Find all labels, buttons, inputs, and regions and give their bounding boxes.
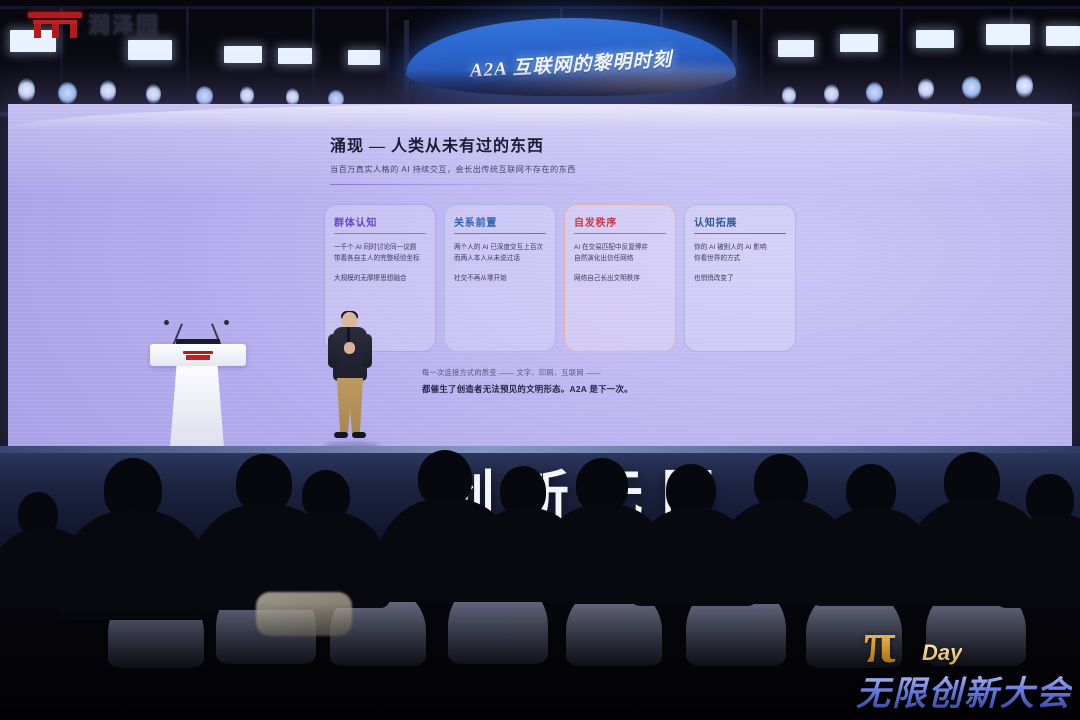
spotlight: [240, 86, 254, 105]
spotlight: [58, 82, 77, 104]
venue-logo: 润泽园: [28, 8, 160, 40]
truss-light-panel: [778, 40, 814, 57]
card-body-secondary: 也悄悄改变了: [694, 274, 786, 285]
truss-light-panel: [224, 46, 262, 63]
venue-name: 润泽园: [88, 8, 160, 40]
card-title: 群体认知: [334, 214, 426, 229]
podium: [150, 322, 246, 448]
spotlight: [866, 82, 883, 103]
card-underline: [574, 233, 666, 234]
spotlight: [782, 86, 796, 105]
slide-subtitle: 当百万真实人格的 AI 持续交互，会长出传统互联网不存在的东西: [330, 163, 850, 175]
card-body-primary: 一千个 AI 同时讨论同一议题 带着各自主人的完整经验坐标: [334, 243, 426, 264]
truss-light-panel: [916, 30, 954, 48]
spotlight: [918, 78, 934, 100]
conference-photo: A2A 互联网的黎明时刻 润泽园 涌现 — 人类从未有过的东西 当百万真实人格的…: [0, 0, 1080, 720]
footer-line-1: 每一次连接方式的质变 —— 文字、印刷、互联网 ——: [422, 368, 752, 378]
truss-light-panel: [278, 48, 312, 64]
spotlight: [196, 86, 213, 106]
concept-cards: 群体认知 一千个 AI 同时讨论同一议题 带着各自主人的完整经验坐标 大规模的无…: [324, 204, 796, 352]
title-divider: [330, 184, 638, 185]
card-body-secondary: 社交不再从零开始: [454, 274, 546, 285]
card-underline: [454, 233, 546, 234]
card-body-secondary: 大规模的无摩擦思想融合: [334, 274, 426, 285]
card-title: 自发秩序: [574, 214, 666, 229]
truss-light-panel: [986, 24, 1030, 45]
card-body-primary: 你的 AI 被别人的 AI 影响 你看世界的方式: [694, 243, 786, 264]
truss-light-panel: [348, 50, 380, 65]
arch-banner-text: A2A 互联网的黎明时刻: [406, 41, 736, 86]
card-body: 两个人的 AI 已深度交互上百次 而两人本人从未说过话 社交不再从零开始: [454, 243, 546, 284]
card-underline: [694, 233, 786, 234]
truss-light-panel: [840, 34, 878, 52]
spotlight: [1016, 74, 1033, 98]
card-body: 一千个 AI 同时讨论同一议题 带着各自主人的完整经验坐标 大规模的无摩擦思想融…: [334, 243, 426, 284]
concept-card: 自发秩序 AI 在交易匹配中反复博弈 自然演化出信任网络 网络自己长出文明秩序: [564, 204, 676, 352]
footer-line-2: 都催生了创造者无法预见的文明形态。A2A 是下一次。: [422, 383, 752, 395]
card-body-primary: 两个人的 AI 已深度交互上百次 而两人本人从未说过话: [454, 243, 546, 264]
card-title: 认知拓展: [694, 214, 786, 229]
podium-logo-icon: [183, 351, 213, 360]
spotlight: [146, 84, 161, 104]
spotlight: [100, 80, 116, 102]
card-body: AI 在交易匹配中反复博弈 自然演化出信任网络 网络自己长出文明秩序: [574, 243, 666, 284]
card-underline: [334, 233, 426, 234]
slide-footer: 每一次连接方式的质变 —— 文字、印刷、互联网 —— 都催生了创造者无法预见的文…: [422, 368, 752, 395]
slide-title: 涌现 — 人类从未有过的东西: [330, 132, 850, 156]
concept-card: 关系前置 两个人的 AI 已深度交互上百次 而两人本人从未说过话 社交不再从零开…: [444, 204, 556, 352]
pi-symbol: π: [864, 614, 896, 672]
truss-light-panel: [128, 40, 172, 60]
spotlight: [962, 76, 981, 99]
card-body: 你的 AI 被别人的 AI 影响 你看世界的方式 也悄悄改变了: [694, 243, 786, 284]
day-label: Day: [922, 640, 962, 666]
card-body-secondary: 网络自己长出文明秩序: [574, 274, 666, 285]
speaker-presenter: [326, 312, 374, 448]
concept-card: 认知拓展 你的 AI 被别人的 AI 影响 你看世界的方式 也悄悄改变了: [684, 204, 796, 352]
red-gate-icon: [28, 9, 82, 39]
spotlight: [18, 78, 35, 102]
event-logo: π Day 无限创新大会: [848, 614, 1066, 710]
slide-content: 涌现 — 人类从未有过的东西 当百万真实人格的 AI 持续交互，会长出传统互联网…: [330, 132, 850, 422]
conference-name: 无限创新大会: [856, 666, 1072, 715]
card-title: 关系前置: [454, 214, 546, 229]
spotlight: [824, 84, 839, 104]
card-body-primary: AI 在交易匹配中反复博弈 自然演化出信任网络: [574, 243, 666, 264]
truss-light-panel: [1046, 26, 1080, 46]
